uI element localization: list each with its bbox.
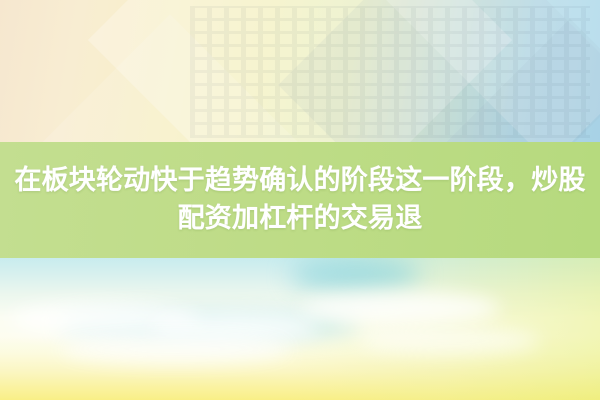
cloud-shape <box>10 302 200 336</box>
diagonal-facet-shape <box>14 14 325 142</box>
diagonal-facet-shape <box>366 0 600 142</box>
diagonal-facet-shape <box>88 0 512 142</box>
bottom-sky-panel <box>0 258 600 400</box>
sky-haze <box>60 312 360 338</box>
decorative-article-banner: 在板块轮动快于趋势确认的阶段这一阶段，炒股配资加杠杆的交易退 <box>0 0 600 400</box>
banner-headline-text: 在板块轮动快于趋势确认的阶段这一阶段，炒股配资加杠杆的交易退 <box>6 162 594 238</box>
sky-haze <box>290 258 420 292</box>
cloud-shape <box>150 312 320 342</box>
cloud-shape <box>360 328 540 354</box>
top-gradient-panel <box>0 0 600 142</box>
headline-band: 在板块轮动快于趋势确认的阶段这一阶段，炒股配资加杠杆的交易退 <box>0 142 600 258</box>
faint-texture-watermark <box>190 6 590 138</box>
cloud-shape <box>60 334 290 364</box>
cloud-shape <box>300 292 500 324</box>
diagonal-facet-shape <box>429 19 600 142</box>
diagonal-facet-shape <box>278 0 600 142</box>
